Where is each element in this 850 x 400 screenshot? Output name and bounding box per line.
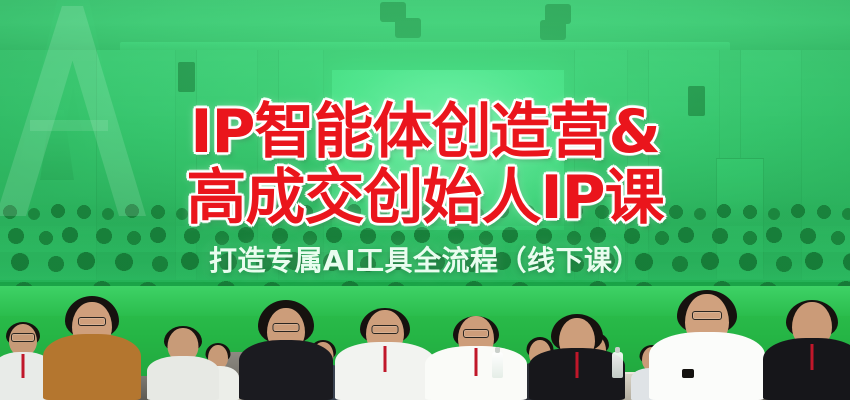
- attendee: [762, 300, 850, 400]
- water-bottle: [612, 352, 623, 378]
- wristwatch: [682, 369, 694, 378]
- poster-subtitle: 打造专属AI工具全流程（线下课）: [209, 244, 641, 278]
- torso: [649, 332, 765, 400]
- attendee: [334, 306, 436, 400]
- attendee: [146, 330, 220, 400]
- attendee: [238, 302, 334, 400]
- glasses-icon: [372, 325, 399, 334]
- torso: [147, 356, 219, 400]
- front-row-attendees: [0, 286, 850, 400]
- event-poster-banner: IP智能体创造营& 高成交创始人IP课 打造专属AI工具全流程（线下课）: [0, 0, 850, 400]
- glasses-icon: [463, 329, 489, 338]
- attendee: [648, 288, 766, 400]
- glasses-icon: [273, 323, 300, 332]
- torso: [43, 334, 141, 400]
- attendee: [424, 312, 528, 400]
- glasses-icon: [78, 317, 106, 326]
- torso: [239, 340, 333, 400]
- lanyard: [811, 344, 814, 370]
- glasses-icon: [692, 311, 722, 320]
- water-bottle: [492, 352, 503, 378]
- lanyard: [22, 354, 25, 378]
- attendee: [42, 296, 142, 400]
- lanyard: [475, 348, 478, 376]
- poster-title-line-2: 高成交创始人IP课: [186, 164, 663, 232]
- glasses-icon: [11, 333, 35, 342]
- lanyard: [576, 352, 579, 378]
- poster-text-block: IP智能体创造营& 高成交创始人IP课 打造专属AI工具全流程（线下课）: [0, 0, 850, 300]
- torso: [763, 338, 850, 400]
- lanyard: [384, 346, 387, 372]
- poster-title-line-1: IP智能体创造营&: [190, 98, 660, 166]
